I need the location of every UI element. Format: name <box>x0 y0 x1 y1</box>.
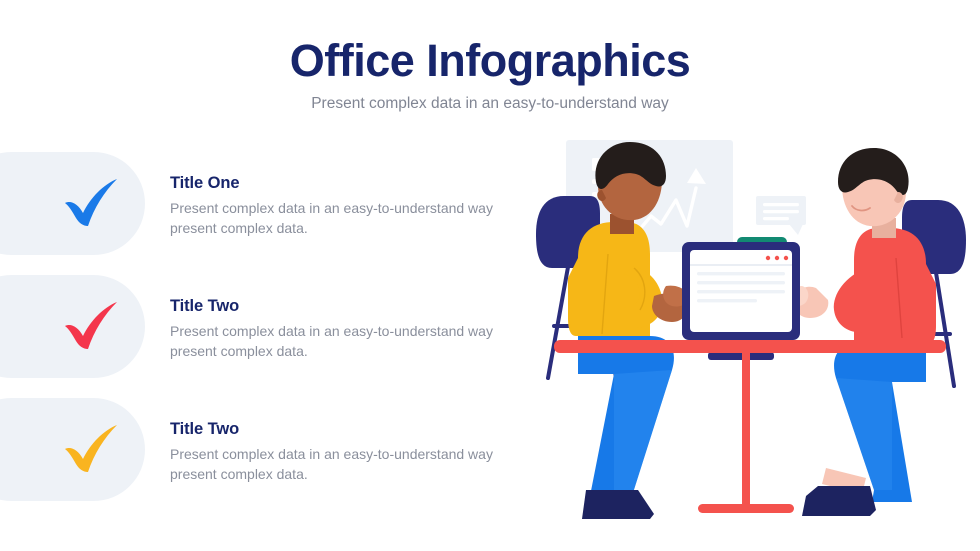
page-subtitle: Present complex data in an easy-to-under… <box>0 95 980 114</box>
header: Office Infographics Present complex data… <box>0 38 980 114</box>
check-icon <box>62 299 120 354</box>
page-title: Office Infographics <box>0 38 980 83</box>
slide-root: Office Infographics Present complex data… <box>0 0 980 551</box>
list-item-title: Title Two <box>170 420 515 440</box>
office-illustration <box>530 138 970 533</box>
check-icon <box>62 176 120 231</box>
list-item-description: Present complex data in an easy-to-under… <box>170 198 505 239</box>
list-item[interactable]: Title One Present complex data in an eas… <box>0 152 520 255</box>
list-item-text: Title One Present complex data in an eas… <box>170 174 515 238</box>
list-item-text: Title Two Present complex data in an eas… <box>170 297 515 361</box>
list-item[interactable]: Title Two Present complex data in an eas… <box>0 275 520 378</box>
list-item-title: Title One <box>170 174 515 194</box>
list-item[interactable]: Title Two Present complex data in an eas… <box>0 398 520 501</box>
check-icon <box>62 422 120 477</box>
list-item-description: Present complex data in an easy-to-under… <box>170 444 505 485</box>
list-item-description: Present complex data in an easy-to-under… <box>170 321 505 362</box>
feature-list: Title One Present complex data in an eas… <box>0 152 520 521</box>
chat-bubble-gray <box>756 196 806 235</box>
list-item-text: Title Two Present complex data in an eas… <box>170 420 515 484</box>
list-item-title: Title Two <box>170 297 515 317</box>
